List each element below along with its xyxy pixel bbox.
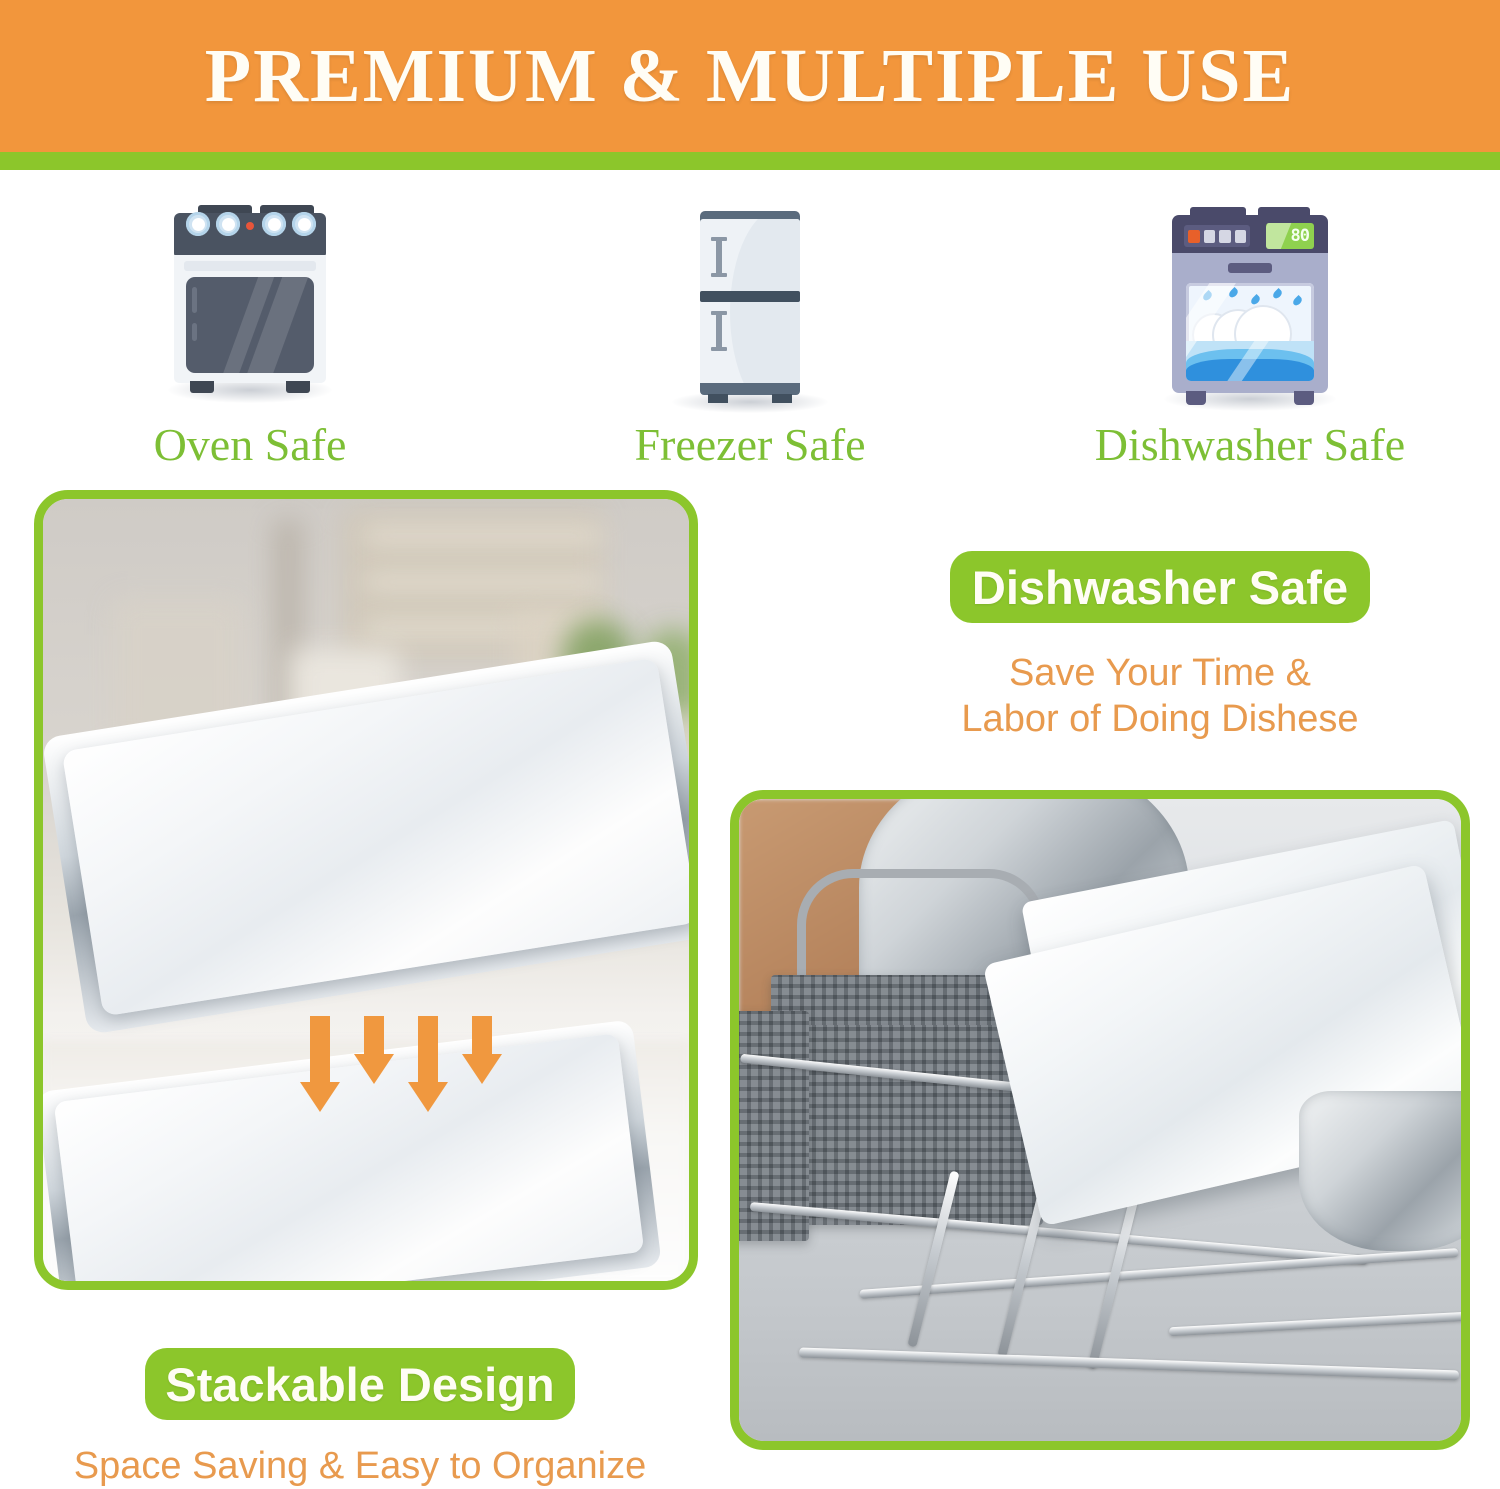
dishwasher-icon: 80 [1150, 201, 1350, 416]
feature-label: Dishwasher Safe [1095, 422, 1405, 468]
feature-label: Freezer Safe [634, 422, 865, 468]
header-green-rule [0, 152, 1500, 170]
subtitle-line-1: Space Saving & Easy to Organize [60, 1443, 660, 1489]
dishwasher-safe-subtitle: Save Your Time & Labor of Doing Dishese [930, 650, 1390, 743]
dishwasher-safe-badge: Dishwasher Safe [950, 551, 1370, 623]
dishwasher-handle-icon [1228, 263, 1272, 273]
feature-freezer: Freezer Safe [500, 178, 1000, 468]
dishwasher-display: 80 [1266, 223, 1314, 249]
header-banner: PREMIUM & MULTIPLE USE [0, 0, 1500, 152]
page-title: PREMIUM & MULTIPLE USE [205, 38, 1295, 114]
subtitle-line-1: Save Your Time & [930, 650, 1390, 696]
stackable-design-subtitle: Space Saving & Easy to Organize [60, 1443, 660, 1489]
feature-label: Oven Safe [154, 422, 347, 468]
display-value: 80 [1291, 226, 1309, 246]
program-button-icon [1204, 230, 1216, 243]
refrigerator-icon [650, 201, 850, 416]
stacking-arrows-indicator [300, 1016, 550, 1136]
feature-oven: Oven Safe [0, 178, 500, 468]
stacked-baking-sheets-photo [34, 490, 698, 1290]
baking-sheets-in-dishwasher-photo [730, 790, 1470, 1450]
stackable-design-badge: Stackable Design [145, 1348, 575, 1420]
program-button-icon [1235, 230, 1247, 243]
power-button-icon [1188, 230, 1200, 243]
dishwasher-button-group [1184, 225, 1250, 247]
program-button-icon [1219, 230, 1231, 243]
subtitle-line-2: Labor of Doing Dishese [930, 696, 1390, 742]
oven-icon [150, 201, 350, 416]
feature-icon-row: Oven Safe Freezer Safe [0, 178, 1500, 468]
feature-dishwasher: 80 Dishwasher Safe [1000, 178, 1500, 468]
